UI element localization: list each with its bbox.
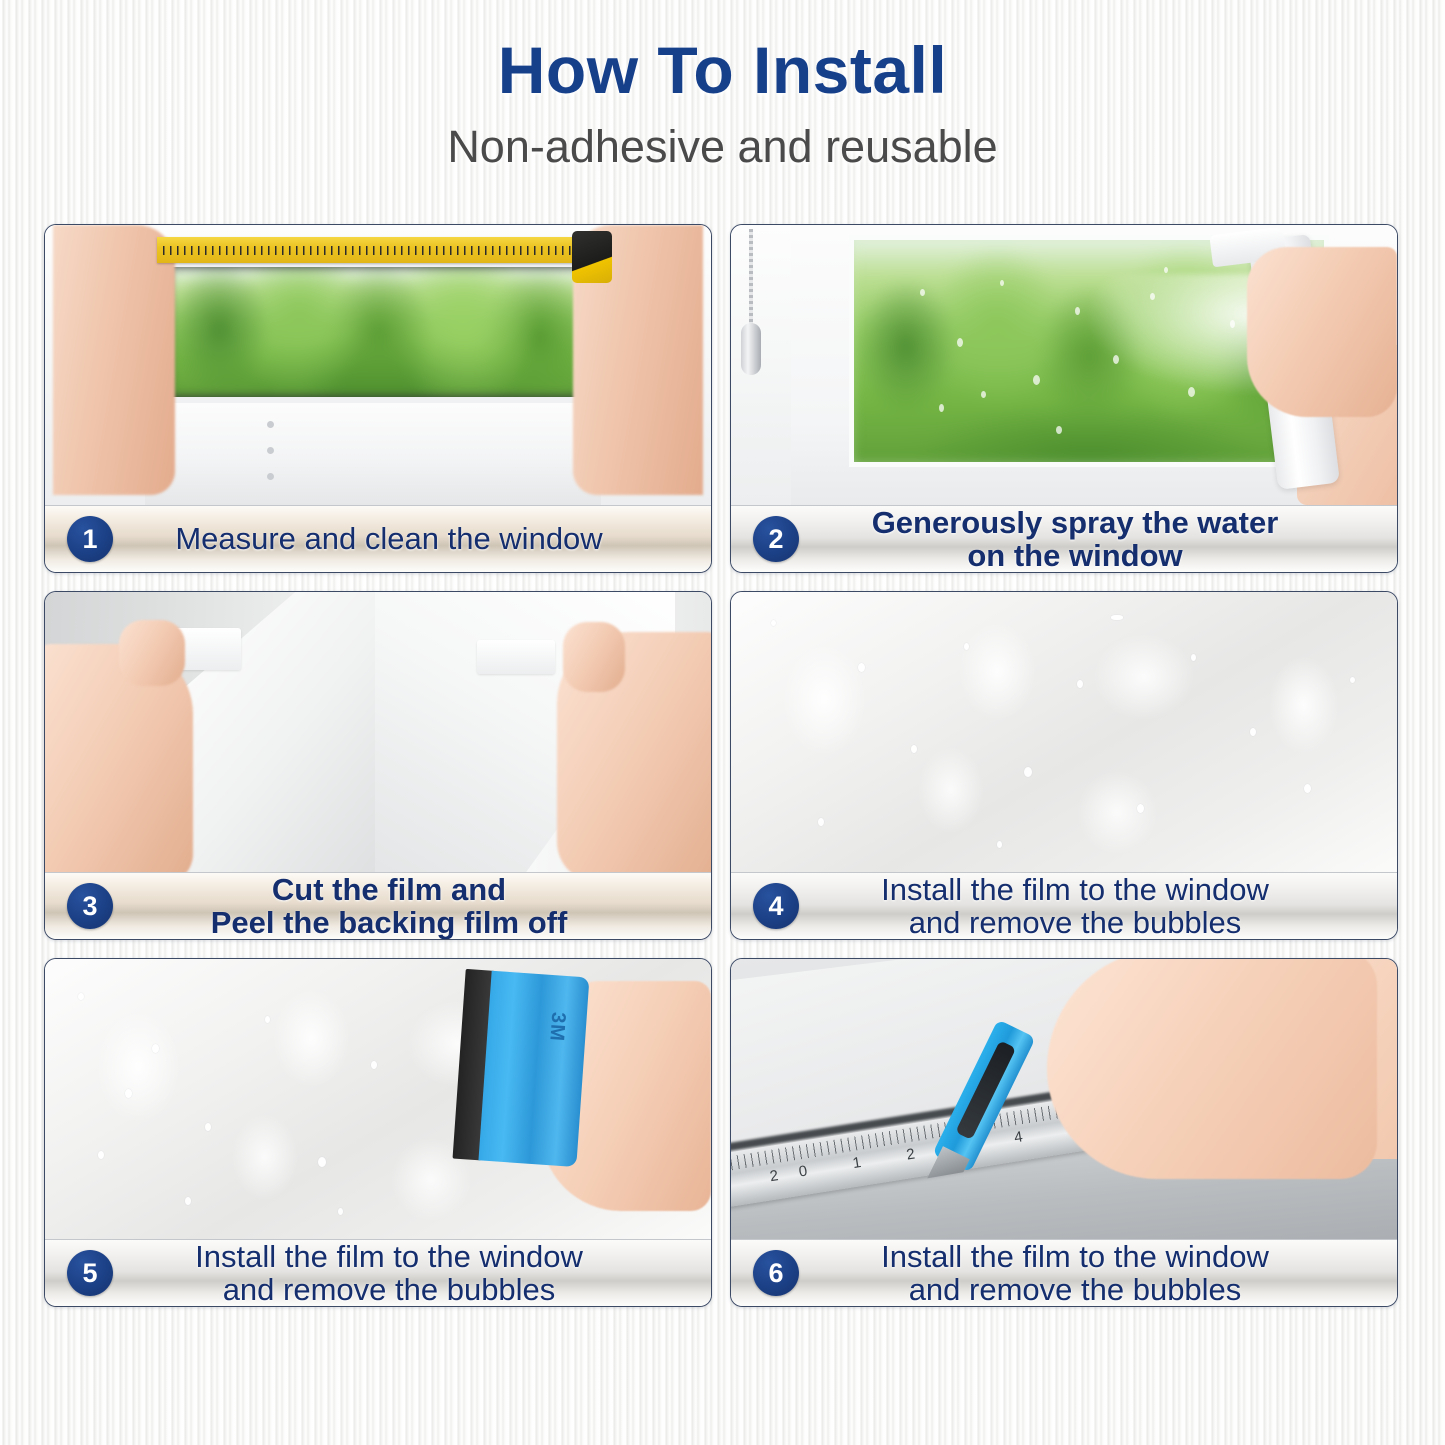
step-number-badge: 1 [67, 516, 113, 562]
step-4-caption-bar: 4 Install the film to the window and rem… [731, 872, 1397, 939]
step-2-photo [731, 225, 1397, 508]
left-hand [53, 225, 175, 495]
tree-scenery [169, 267, 589, 397]
window-sill [145, 397, 601, 508]
hand [1047, 959, 1377, 1179]
step-5-photo: 3M [45, 959, 711, 1242]
step-number-badge: 6 [753, 1250, 799, 1296]
step-caption: Cut the film and Peel the backing film o… [119, 873, 711, 940]
step-caption: Install the film to the window and remov… [805, 1240, 1397, 1307]
step-number-badge: 4 [753, 883, 799, 929]
window-hardware-dot [267, 473, 274, 480]
step-card-6: 9 20 1 2 3 4 5 6 7 8 9 30 1 2 3 4 5 6 7 … [730, 958, 1398, 1307]
step-6-caption-bar: 6 Install the film to the window and rem… [731, 1239, 1397, 1306]
step-caption: Install the film to the window and remov… [119, 1240, 711, 1307]
step-1-caption-bar: 1 Measure and clean the window [45, 505, 711, 572]
step-4-photo [731, 592, 1397, 875]
step-card-1: 1 Measure and clean the window [44, 224, 712, 573]
hand [1247, 247, 1397, 417]
tape-measure-icon [157, 237, 587, 263]
squeegee-brand-label: 3M [545, 1011, 570, 1042]
blind-chain-weight [741, 323, 761, 375]
page-header: How To Install Non-adhesive and reusable [0, 0, 1445, 171]
step-3-caption-bar: 3 Cut the film and Peel the backing film… [45, 872, 711, 939]
left-thumb [119, 620, 185, 686]
film-corner-tab [477, 640, 555, 674]
step-1-photo [45, 225, 711, 508]
window-glass [163, 261, 595, 403]
step-card-5: 3M 5 Install the film to the window and … [44, 958, 712, 1307]
step-2-caption-bar: 2 Generously spray the water on the wind… [731, 505, 1397, 572]
window-hardware-dot [267, 421, 274, 428]
step-card-3: 3 Cut the film and Peel the backing film… [44, 591, 712, 940]
squeegee-tool: 3M [453, 969, 590, 1167]
squeegee-body: 3M [478, 971, 589, 1167]
page-title: How To Install [0, 36, 1445, 105]
frosted-film-surface [731, 592, 1397, 875]
blind-chain [749, 229, 753, 325]
step-number-badge: 5 [67, 1250, 113, 1296]
steps-grid: 1 Measure and clean the window [44, 224, 1401, 1307]
window-hardware-dot [267, 447, 274, 454]
right-thumb [563, 622, 625, 692]
step-3-photo [45, 592, 711, 875]
page-subtitle: Non-adhesive and reusable [0, 123, 1445, 170]
tape-measure-case [572, 231, 612, 283]
step-5-caption-bar: 5 Install the film to the window and rem… [45, 1239, 711, 1306]
step-card-4: 4 Install the film to the window and rem… [730, 591, 1398, 940]
step-caption: Generously spray the water on the window [805, 506, 1397, 573]
step-6-photo: 9 20 1 2 3 4 5 6 7 8 9 30 1 2 3 4 5 6 7 … [731, 959, 1397, 1242]
step-card-2: 2 Generously spray the water on the wind… [730, 224, 1398, 573]
step-caption: Measure and clean the window [119, 522, 711, 555]
step-caption: Install the film to the window and remov… [805, 873, 1397, 940]
step-number-badge: 3 [67, 883, 113, 929]
step-number-badge: 2 [753, 516, 799, 562]
